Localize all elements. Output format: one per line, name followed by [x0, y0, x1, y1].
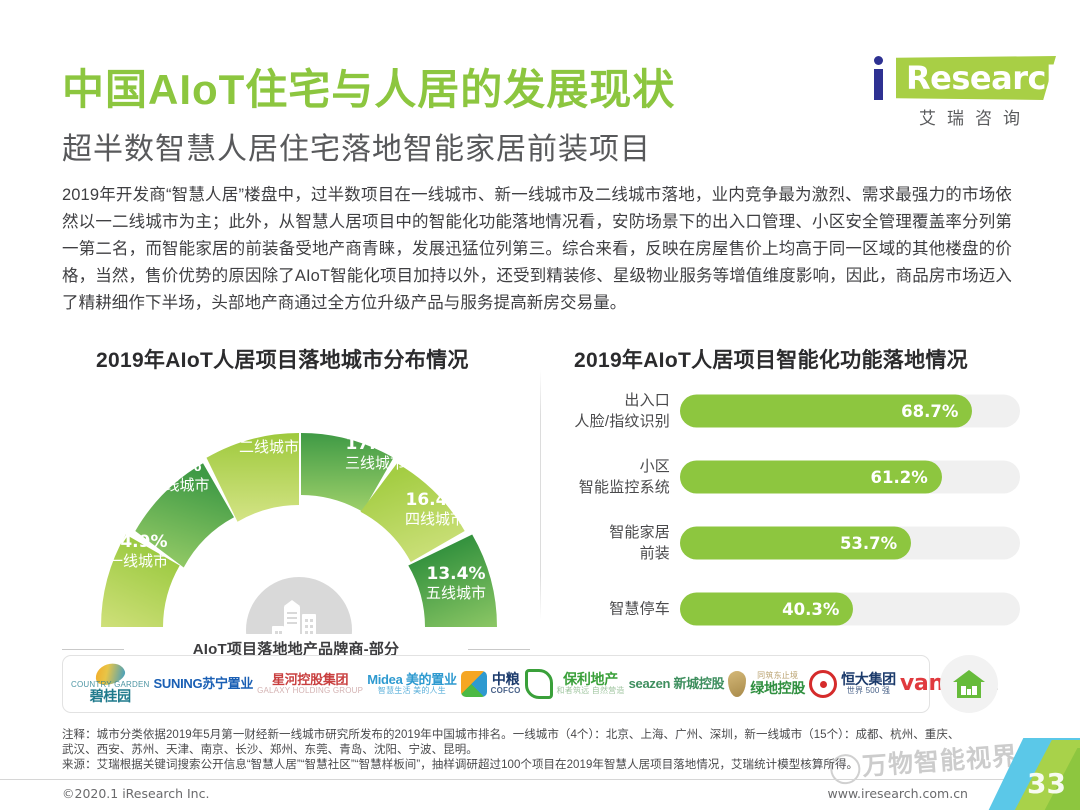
logo-i-stem-icon [874, 69, 883, 100]
fan-label-2-pct: 22.4% [214, 418, 324, 438]
page-number: 33 [1027, 767, 1066, 800]
bar-label-0-line1: 出入口 [560, 390, 670, 411]
bar-row: 出入口 人脸/指纹识别 68.7% [560, 382, 1030, 440]
brand-logo-seazen: seazen 新城控股 [629, 661, 725, 707]
fan-label-1: 14.9% 新一线城市 [112, 456, 232, 495]
bar-value-3: 40.3% [782, 600, 839, 619]
bar-track-2: 53.7% [680, 527, 1020, 560]
bar-label-2: 智能家居 前装 [560, 522, 670, 564]
bar-chart-title: 2019年AIoT人居项目智能化功能落地情况 [574, 344, 968, 374]
footnote-line-2: 武汉、西安、苏州、天津、南京、长沙、郑州、东莞、青岛、沈阳、宁波、昆明。 [62, 743, 1017, 758]
fan-label-5-pct: 13.4% [402, 564, 510, 584]
bar-fill-3: 40.3% [680, 593, 853, 626]
fan-label-1-name: 新一线城市 [112, 476, 232, 495]
bar-value-1: 61.2% [871, 468, 928, 487]
cube-icon [461, 671, 487, 697]
footnote-line-3: 来源：艾瑞根据关键词搜索公开信息“智慧人居”“智慧社区”“智慧样板间”，抽样调研… [62, 758, 1017, 773]
brand-logo-biguiyuan: COUNTRY GARDEN 碧桂园 [71, 661, 150, 707]
bar-chart-panel: 2019年AIoT人居项目智能化功能落地情况 出入口 人脸/指纹识别 68.7%… [560, 340, 1030, 640]
brand-logo-cofco: 中粮 COFCO [461, 661, 521, 707]
slide-page: 中国AIoT住宅与人居的发展现状 超半数智慧人居住宅落地智能家居前装项目 Res… [0, 0, 1080, 810]
bar-fill-2: 53.7% [680, 527, 911, 560]
bar-track-3: 40.3% [680, 593, 1020, 626]
footnotes: 注释：城市分类依据2019年5月第一财经新一线城市研究所发布的2019年中国城市… [62, 728, 1017, 773]
logo-mark: Research [862, 52, 1058, 104]
logo-wordmark: Research [906, 59, 1068, 97]
brand-logo-midea: Midea 美的置业 智慧生活 美的人生 [367, 661, 456, 707]
bar-row: 智能家居 前装 53.7% [560, 514, 1030, 572]
footer-url[interactable]: www.iresearch.com.cn [828, 786, 969, 801]
fan-label-0-name: 一线城市 [86, 552, 190, 571]
bar-label-3-line1: 智慧停车 [560, 599, 670, 620]
bar-track-0: 68.7% [680, 395, 1020, 428]
body-paragraph: 2019年开发商“智慧人居”楼盘中，过半数项目在一线城市、新一线城市及二线城市落… [62, 182, 1012, 317]
fan-chart-title: 2019年AIoT人居项目落地城市分布情况 [96, 344, 469, 374]
bar-fill-0: 68.7% [680, 395, 972, 428]
fan-label-0: 14.9% 一线城市 [86, 532, 190, 571]
brand-logo-evergrande: 恒大集团 世界 500 强 [809, 661, 896, 707]
droplet-icon [728, 671, 746, 697]
fan-label-4-name: 四线城市 [380, 510, 490, 529]
fan-label-4: 16.4% 四线城市 [380, 490, 490, 529]
fan-chart: 14.9% 一线城市 14.9% 新一线城市 22.4% 二线城市 17.9% … [62, 382, 530, 634]
footnote-line-1: 注释：城市分类依据2019年5月第一财经新一线城市研究所发布的2019年中国城市… [62, 728, 1017, 743]
fan-label-5: 13.4% 五线城市 [402, 564, 510, 603]
logo-i-dot-icon [874, 56, 883, 65]
leaf-icon [525, 669, 553, 699]
fan-label-3-pct: 17.9% [320, 434, 430, 454]
logo-chinese-name: 艾瑞咨询 [900, 104, 1050, 129]
house-icon [952, 669, 986, 699]
bar-label-0: 出入口 人脸/指纹识别 [560, 390, 670, 432]
fan-label-3: 17.9% 三线城市 [320, 434, 430, 473]
brand-rule-right [468, 649, 530, 650]
page-subtitle: 超半数智慧人居住宅落地智能家居前装项目 [62, 124, 651, 168]
bar-label-1: 小区 智能监控系统 [560, 456, 670, 498]
fan-label-3-name: 三线城市 [320, 454, 430, 473]
brand-logo-suning: SUNING苏宁置业 [154, 661, 254, 707]
ring-icon [809, 670, 837, 698]
brand-logo-poly: 保利地产 和者筑远 自然营造 [525, 661, 625, 707]
fan-label-1-pct: 14.9% [112, 456, 232, 476]
bar-label-2-line1: 智能家居 [560, 522, 670, 543]
brand-logo-strip: COUNTRY GARDEN 碧桂园 SUNING苏宁置业 星河控股集团 GAL… [62, 655, 930, 713]
fan-label-0-pct: 14.9% [86, 532, 190, 552]
bar-label-1-line1: 小区 [560, 456, 670, 477]
bar-fill-1: 61.2% [680, 461, 942, 494]
fan-label-5-name: 五线城市 [402, 584, 510, 603]
fan-label-4-pct: 16.4% [380, 490, 490, 510]
house-badge [940, 655, 998, 713]
bar-row: 小区 智能监控系统 61.2% [560, 448, 1030, 506]
bar-label-1-line2: 智能监控系统 [560, 477, 670, 498]
footer-divider [0, 779, 1080, 780]
fan-chart-panel: 2019年AIoT人居项目落地城市分布情况 [62, 340, 530, 640]
bar-track-1: 61.2% [680, 461, 1020, 494]
bar-label-3: 智慧停车 [560, 599, 670, 620]
footer-copyright: ©2020.1 iResearch Inc. [62, 786, 209, 801]
brand-logo-greenland: 同筑东止境 绿地控股 [728, 661, 805, 707]
page-title: 中国AIoT住宅与人居的发展现状 [62, 56, 675, 117]
panel-divider [540, 370, 541, 620]
bar-chart: 出入口 人脸/指纹识别 68.7% 小区 智能监控系统 61.2% [560, 382, 1030, 646]
bar-label-2-line2: 前装 [560, 543, 670, 564]
bar-value-0: 68.7% [901, 402, 958, 421]
iresearch-logo: Research 艾瑞咨询 [862, 52, 1058, 130]
bar-value-2: 53.7% [840, 534, 897, 553]
fan-label-2-name: 二线城市 [214, 438, 324, 457]
brand-logo-xinghe: 星河控股集团 GALAXY HOLDING GROUP [257, 661, 363, 707]
fan-label-2: 22.4% 二线城市 [214, 418, 324, 457]
bar-label-0-line2: 人脸/指纹识别 [560, 411, 670, 432]
bar-row: 智慧停车 40.3% [560, 580, 1030, 638]
